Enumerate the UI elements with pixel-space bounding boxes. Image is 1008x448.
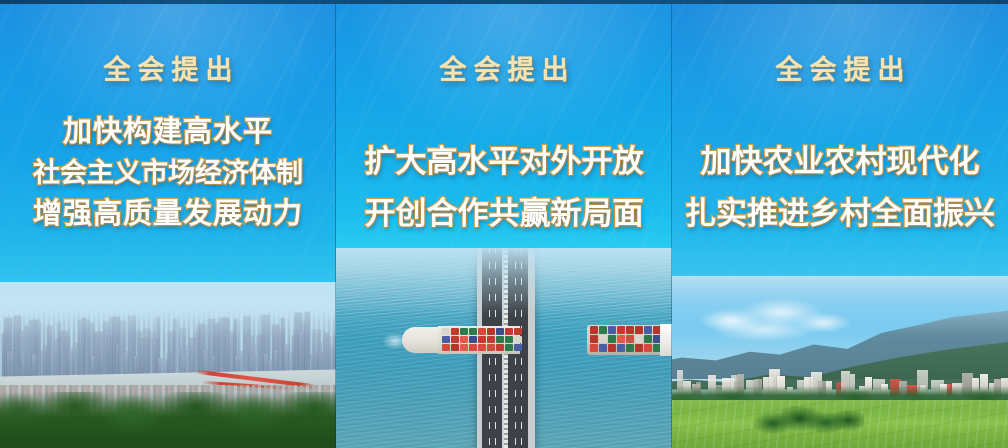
shipping-container [626, 326, 634, 334]
shipping-container [496, 336, 504, 343]
shipping-container [514, 344, 522, 351]
shipping-container [460, 328, 468, 335]
top-dark-strip [0, 0, 1008, 4]
shipping-container [442, 328, 450, 335]
shipping-container [478, 344, 486, 351]
shipping-container [626, 335, 634, 343]
shipping-container [644, 335, 652, 343]
cloud-bank [685, 286, 893, 344]
shipping-container [608, 344, 616, 352]
tree-grove [753, 403, 864, 437]
panel-economy[interactable]: 全会提出 加快构建高水平 社会主义市场经济体制 增强高质量发展动力 [0, 0, 336, 448]
shipping-container [505, 328, 513, 335]
chongqing-cityscape-photo [0, 282, 336, 448]
shipping-container [590, 335, 598, 343]
shipping-container [469, 336, 477, 343]
shipping-container [608, 335, 616, 343]
shipping-container [487, 336, 495, 343]
shipping-container [617, 335, 625, 343]
foreground-forest [0, 392, 336, 448]
shipping-container [478, 328, 486, 335]
shipping-container [599, 344, 607, 352]
skyscraper [305, 312, 310, 378]
shipping-container [644, 344, 652, 352]
shipping-container [451, 328, 459, 335]
shipping-container [590, 344, 598, 352]
shipping-container [442, 344, 450, 351]
panel-divider-2 [671, 0, 672, 448]
shipping-container [451, 344, 459, 351]
skyscraper [25, 326, 28, 378]
shipping-container [487, 328, 495, 335]
shipping-container [460, 344, 468, 351]
poster-stage: 全会提出 加快构建高水平 社会主义市场经济体制 增强高质量发展动力 [0, 0, 1008, 448]
shipping-container [514, 328, 522, 335]
shipping-container [514, 336, 522, 343]
shipping-container [635, 335, 643, 343]
shipping-container [635, 326, 643, 334]
shipping-container [469, 328, 477, 335]
shipping-container [599, 326, 607, 334]
shipping-container [487, 344, 495, 351]
shipping-container [617, 344, 625, 352]
ship-bow [402, 327, 442, 353]
shipping-container [644, 326, 652, 334]
panel-opening-up[interactable]: 全会提出 扩大高水平对外开放 开创合作共赢新局面 [336, 0, 672, 448]
shipping-container [599, 335, 607, 343]
shipping-container [617, 326, 625, 334]
rural-village-photo [672, 276, 1008, 448]
shipping-container [469, 344, 477, 351]
skyscraper-cluster [0, 312, 336, 378]
shipping-container [496, 328, 504, 335]
shipping-container [505, 344, 513, 351]
shipping-container [608, 326, 616, 334]
shipping-container [451, 336, 459, 343]
shipping-container [635, 344, 643, 352]
shipping-container [496, 344, 504, 351]
shipping-container [442, 336, 450, 343]
shipping-container [626, 344, 634, 352]
shipping-container [505, 336, 513, 343]
container-ship [402, 324, 652, 356]
shipping-container [590, 326, 598, 334]
skyscraper [72, 347, 75, 378]
panel-rural[interactable]: 全会提出 加快农业农村现代化 扎实推进乡村全面振兴 [672, 0, 1008, 448]
shipping-container [460, 336, 468, 343]
container-ship-bridge-photo [336, 248, 672, 448]
shipping-container [478, 336, 486, 343]
panel-divider-1 [335, 0, 336, 448]
